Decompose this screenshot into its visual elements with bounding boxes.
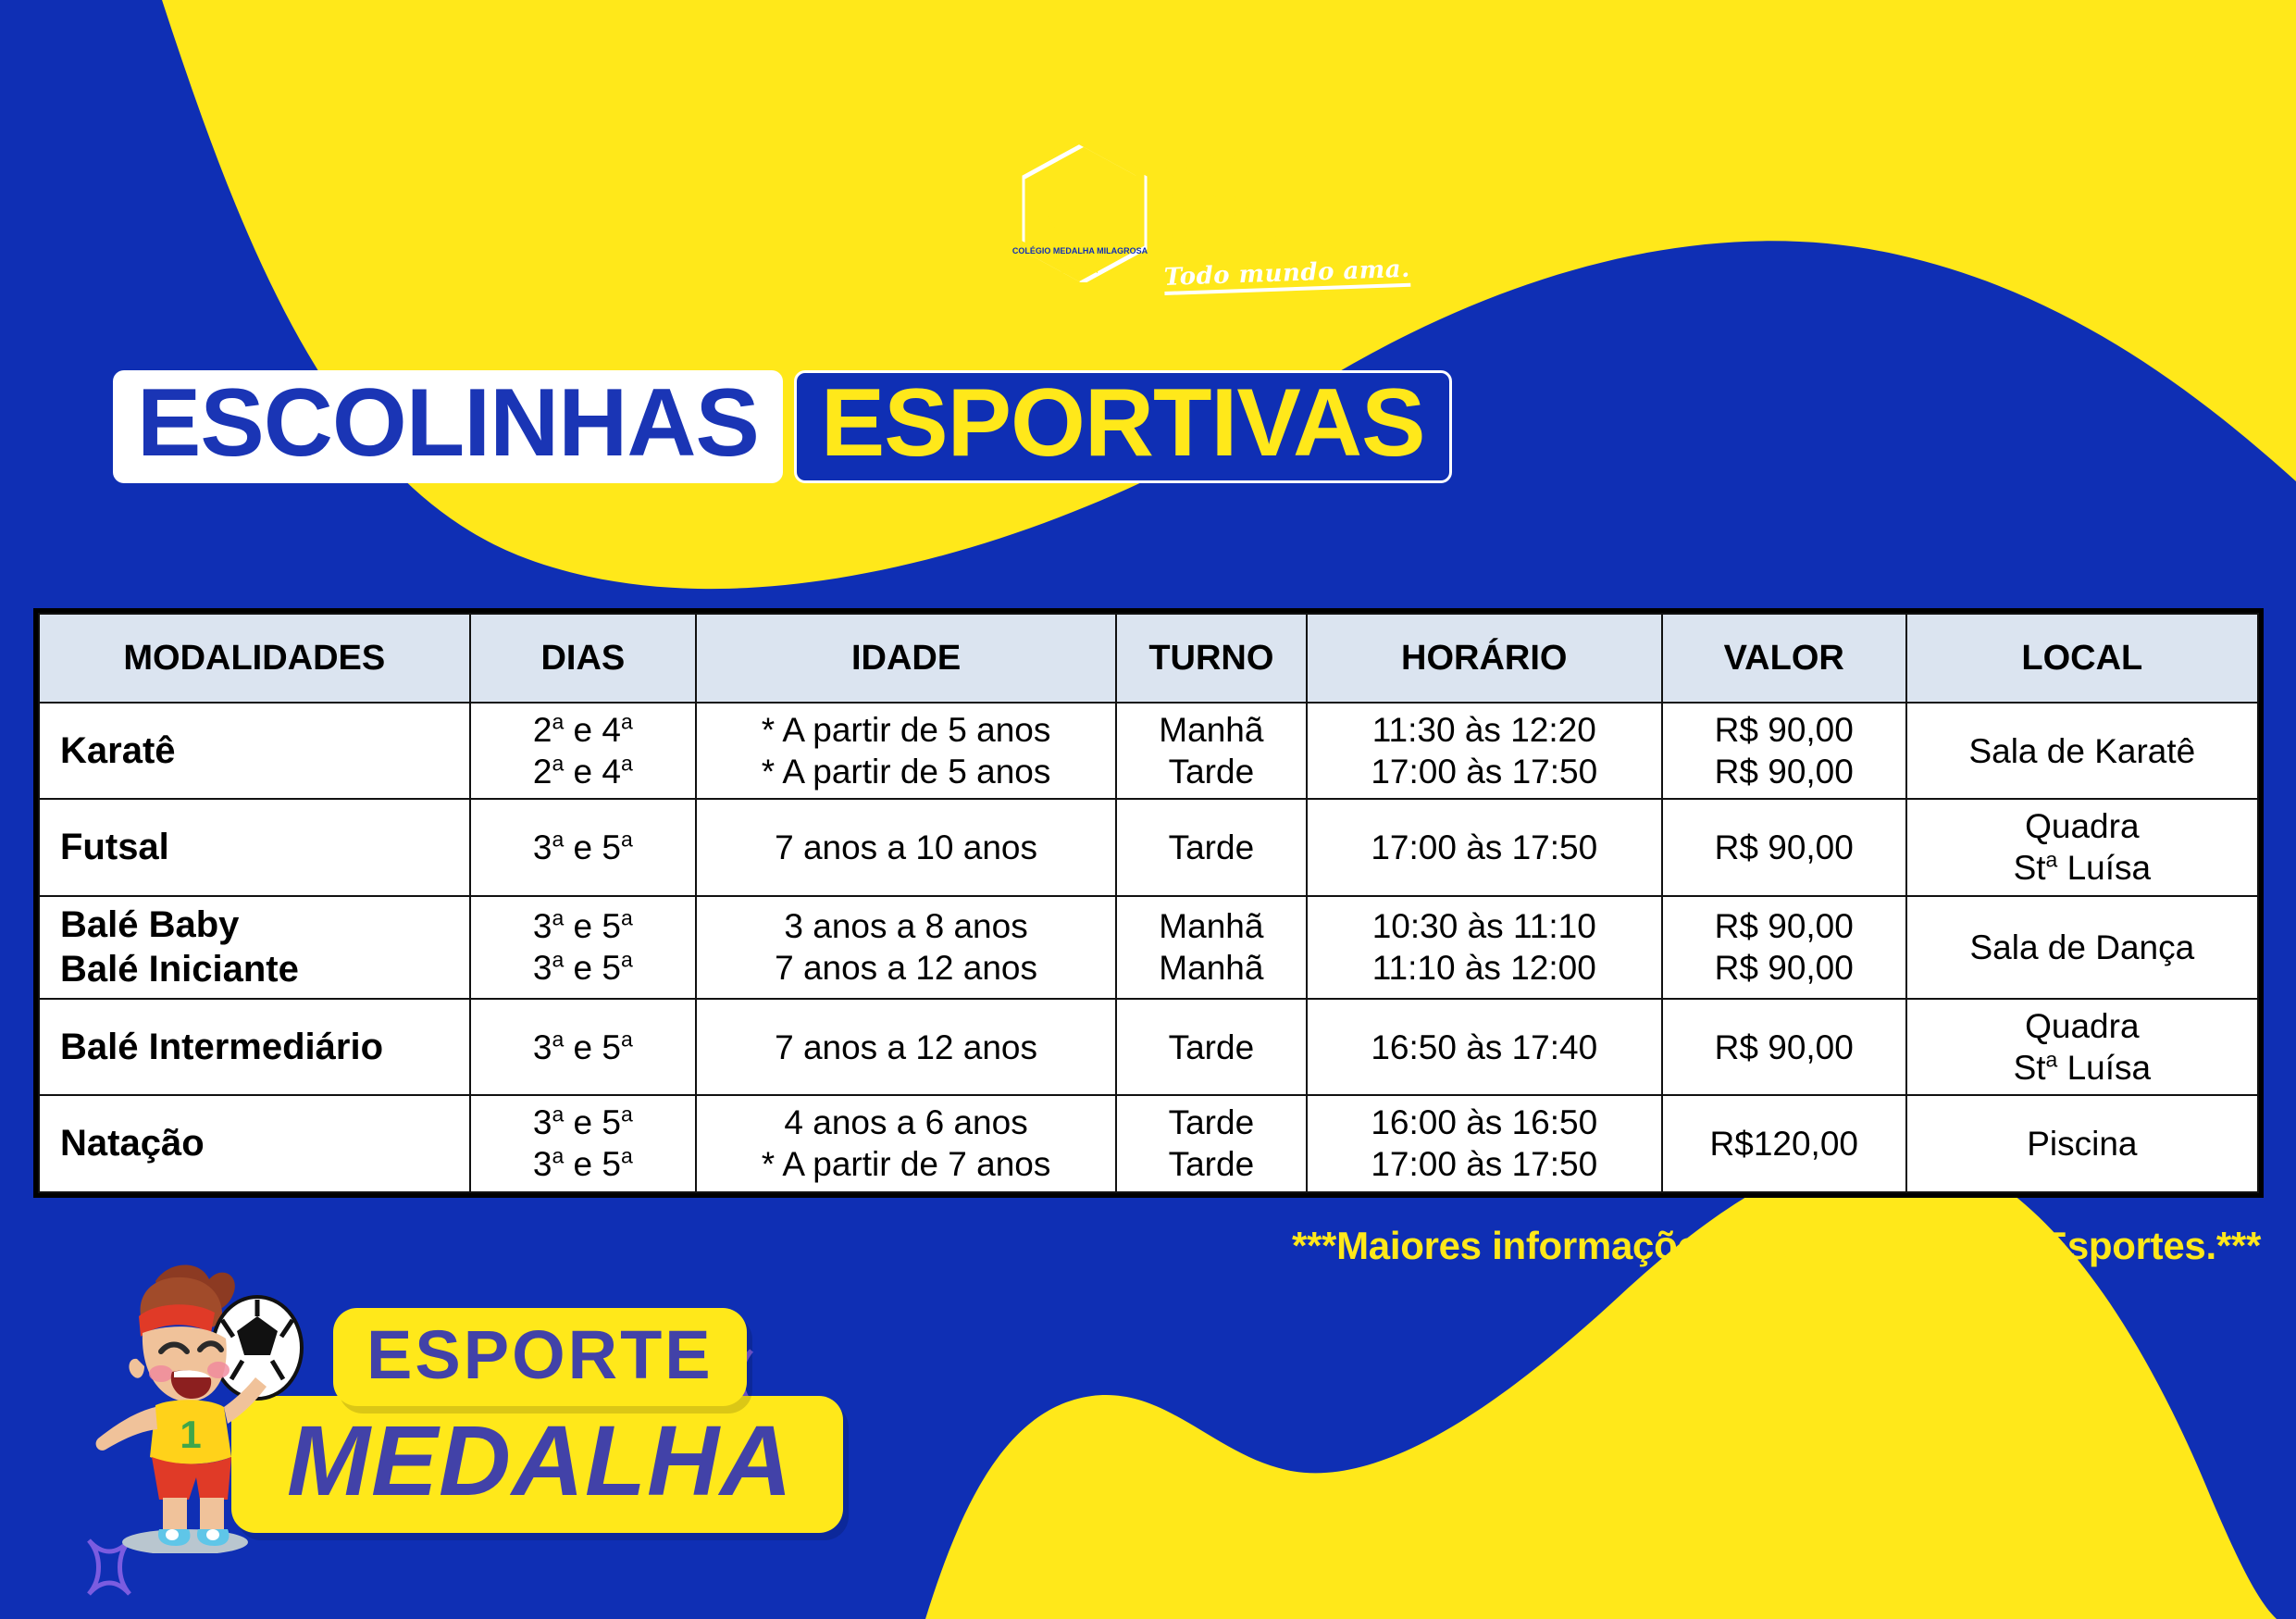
- cell-modalidade: Balé BabyBalé Iniciante: [39, 896, 470, 1000]
- cell-dias: 3a e 5a: [470, 999, 696, 1095]
- cell-modalidade: Futsal: [39, 799, 470, 895]
- cell-horario: 16:00 às 16:5017:00 às 17:50: [1307, 1095, 1662, 1191]
- cell-dias: 2a e 4a2a e 4a: [470, 703, 696, 799]
- year-label: 2024: [1995, 7, 2242, 128]
- cell-idade: 3 anos a 8 anos7 anos a 12 anos: [696, 896, 1116, 1000]
- column-header-valor: VALOR: [1662, 614, 1906, 703]
- footer-note: ***Maiores informações Coordenação de Es…: [1292, 1224, 2261, 1268]
- cell-turno: Tarde: [1116, 999, 1307, 1095]
- column-header-horario: HORÁRIO: [1307, 614, 1662, 703]
- cell-turno: ManhãTarde: [1116, 703, 1307, 799]
- cell-valor: R$ 90,00R$ 90,00: [1662, 703, 1906, 799]
- cell-turno: TardeTarde: [1116, 1095, 1307, 1191]
- table-row: Balé BabyBalé Iniciante3a e 5a3a e 5a3 a…: [39, 896, 2258, 1000]
- cell-dias: 3a e 5a3a e 5a: [470, 896, 696, 1000]
- esporte-medalha-badge: 1 MEDALHA ESPORTE: [56, 1248, 851, 1618]
- schedule-table-container: MODALIDADES DIAS IDADE TURNO HORÁRIO VAL…: [33, 608, 2264, 1198]
- mascot-boy-with-ball-icon: 1: [83, 1248, 324, 1553]
- page-title: ESCOLINHAS ESPORTIVAS: [113, 370, 1452, 483]
- school-logo-wordmark: Colégio Medalha Milagrosa Todo mundo ama…: [1164, 134, 1410, 296]
- cell-local: Sala de Dança: [1906, 896, 2258, 1000]
- cell-local: Piscina: [1906, 1095, 2258, 1191]
- school-crest-icon: COLÉGIO MEDALHA MILAGROSA DESDE 1947: [1009, 134, 1149, 282]
- column-header-idade: IDADE: [696, 614, 1116, 703]
- cell-modalidade: Karatê: [39, 703, 470, 799]
- cell-valor: R$ 90,00R$ 90,00: [1662, 896, 1906, 1000]
- wave-bottom-right: [925, 1148, 2277, 1619]
- title-escolinhas: ESCOLINHAS: [113, 370, 783, 483]
- cell-idade: * A partir de 5 anos* A partir de 5 anos: [696, 703, 1116, 799]
- school-name-line-2: Medalha: [1164, 183, 1410, 223]
- cell-valor: R$ 90,00: [1662, 999, 1906, 1095]
- cell-dias: 3a e 5a: [470, 799, 696, 895]
- cell-local: Sala de Karatê: [1906, 703, 2258, 799]
- cell-horario: 10:30 às 11:1011:10 às 12:00: [1307, 896, 1662, 1000]
- column-header-turno: TURNO: [1116, 614, 1307, 703]
- cell-modalidade: Balé Intermediário: [39, 999, 470, 1095]
- cell-idade: 4 anos a 6 anos* A partir de 7 anos: [696, 1095, 1116, 1191]
- svg-text:DESDE 1947: DESDE 1947: [1061, 268, 1099, 275]
- cell-horario: 16:50 às 17:40: [1307, 999, 1662, 1095]
- school-name-line-1: Colégio: [1164, 143, 1410, 183]
- title-esportivas: ESPORTIVAS: [794, 370, 1452, 483]
- cell-valor: R$ 90,00: [1662, 799, 1906, 895]
- cell-idade: 7 anos a 10 anos: [696, 799, 1116, 895]
- table-header: MODALIDADES DIAS IDADE TURNO HORÁRIO VAL…: [39, 614, 2258, 703]
- cell-local: QuadraSta Luísa: [1906, 799, 2258, 895]
- cell-local: QuadraSta Luísa: [1906, 999, 2258, 1095]
- column-header-modalidades: MODALIDADES: [39, 614, 470, 703]
- column-header-dias: DIAS: [470, 614, 696, 703]
- column-header-local: LOCAL: [1906, 614, 2258, 703]
- cell-idade: 7 anos a 12 anos: [696, 999, 1116, 1095]
- schedule-table: MODALIDADES DIAS IDADE TURNO HORÁRIO VAL…: [38, 613, 2259, 1193]
- poster-canvas: 2024 COLÉGIO MEDALHA MILAGROSA DESDE 194…: [0, 0, 2296, 1619]
- cell-turno: Tarde: [1116, 799, 1307, 895]
- table-row: Karatê2a e 4a2a e 4a* A partir de 5 anos…: [39, 703, 2258, 799]
- table-row: Balé Intermediário3a e 5a7 anos a 12 ano…: [39, 999, 2258, 1095]
- cell-horario: 11:30 às 12:2017:00 às 17:50: [1307, 703, 1662, 799]
- table-body: Karatê2a e 4a2a e 4a* A partir de 5 anos…: [39, 703, 2258, 1192]
- cell-valor: R$120,00: [1662, 1095, 1906, 1191]
- cell-modalidade: Natação: [39, 1095, 470, 1191]
- cell-dias: 3a e 5a3a e 5a: [470, 1095, 696, 1191]
- svg-text:1: 1: [180, 1413, 201, 1456]
- table-row: Natação3a e 5a3a e 5a4 anos a 6 anos* A …: [39, 1095, 2258, 1191]
- school-logo: COLÉGIO MEDALHA MILAGROSA DESDE 1947 Col…: [1009, 134, 1410, 296]
- badge-label-esporte: ESPORTE: [333, 1308, 747, 1406]
- table-header-row: MODALIDADES DIAS IDADE TURNO HORÁRIO VAL…: [39, 614, 2258, 703]
- cell-horario: 17:00 às 17:50: [1307, 799, 1662, 895]
- cell-turno: ManhãManhã: [1116, 896, 1307, 1000]
- svg-text:COLÉGIO MEDALHA MILAGROSA: COLÉGIO MEDALHA MILAGROSA: [1012, 246, 1148, 255]
- table-row: Futsal3a e 5a7 anos a 10 anosTarde17:00 …: [39, 799, 2258, 895]
- school-tagline: Todo mundo ama.: [1163, 258, 1410, 296]
